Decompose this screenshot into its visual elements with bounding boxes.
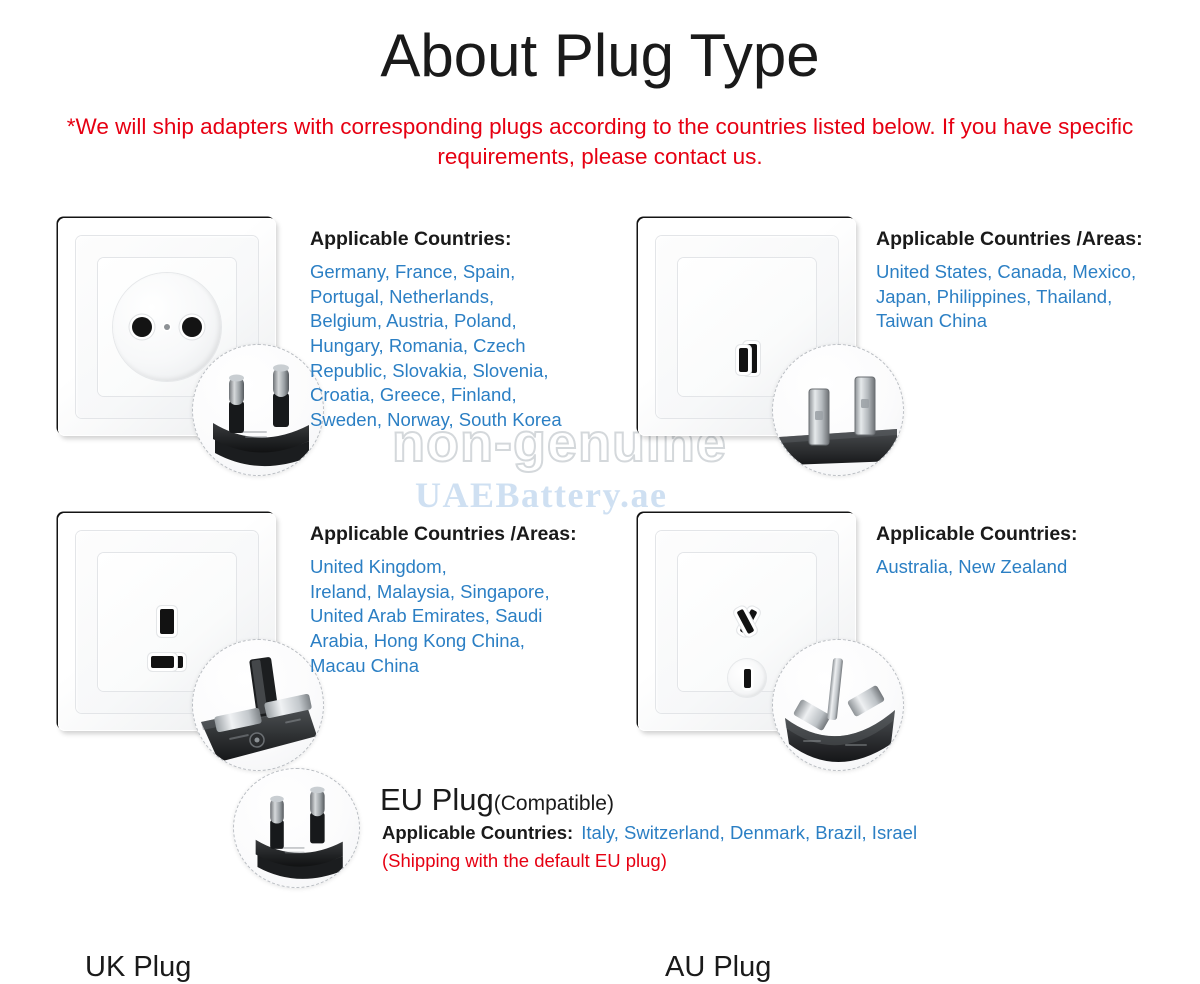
country-line: Belgium, Austria, Poland,: [310, 309, 562, 334]
infographic-page: About Plug Type *We will ship adapters w…: [0, 0, 1200, 900]
text-block-uk: Applicable Countries /Areas: United King…: [310, 523, 577, 678]
applicable-heading-us: Applicable Countries /Areas:: [876, 228, 1143, 251]
text-block-au: Applicable Countries: Australia, New Zea…: [876, 523, 1078, 580]
page-subtitle: *We will ship adapters with correspondin…: [60, 112, 1140, 171]
compatible-shipping-note: (Shipping with the default EU plug): [382, 850, 667, 872]
applicable-heading-eu: Applicable Countries:: [310, 228, 562, 251]
au-plug-icon: [773, 640, 903, 770]
inset-eu-plug-photo: [192, 344, 324, 476]
country-list-us: United States, Canada, Mexico, Japan, Ph…: [876, 260, 1143, 334]
country-line: Republic, Slovakia, Slovenia,: [310, 359, 562, 384]
eu-socket-hole-right: [182, 317, 202, 337]
us-socket-slot-right: [739, 348, 748, 372]
au-socket-earth-recess: [728, 659, 766, 697]
country-line: Ireland, Malaysia, Singapore,: [310, 580, 577, 605]
compatible-countries-row: Applicable Countries:Italy, Switzerland,…: [382, 822, 917, 844]
plug-label-uk: UK Plug: [85, 951, 191, 984]
us-plug-icon: [773, 345, 903, 475]
eu-plug-icon: [234, 769, 359, 887]
country-line: Taiwan China: [876, 309, 1143, 334]
applicable-heading-au: Applicable Countries:: [876, 523, 1078, 546]
compatible-title-suffix: (Compatible): [494, 792, 614, 815]
plug-card-us: US Plug: [638, 218, 856, 436]
country-line: Australia, New Zealand: [876, 555, 1078, 580]
subtitle-line-1: *We will ship adapters with correspondin…: [67, 114, 866, 139]
applicable-heading-uk: Applicable Countries /Areas:: [310, 523, 577, 546]
inset-eu-compatible-plug-photo: [233, 768, 360, 888]
eu-socket-center-pin: [164, 324, 170, 330]
inset-us-plug-photo: [772, 344, 904, 476]
uk-socket-slot-right: [151, 656, 174, 668]
country-list-au: Australia, New Zealand: [876, 555, 1078, 580]
compatible-applicable-heading: Applicable Countries:: [382, 822, 573, 843]
uk-plug-icon: [193, 640, 323, 770]
country-line: Germany, France, Spain,: [310, 260, 562, 285]
page-title: About Plug Type: [0, 24, 1200, 87]
plug-card-uk: UK Plug: [58, 513, 276, 731]
compatible-country-list: Italy, Switzerland, Denmark, Brazil, Isr…: [581, 822, 917, 843]
text-block-eu: Applicable Countries: Germany, France, S…: [310, 228, 562, 433]
text-block-us: Applicable Countries /Areas: United Stat…: [876, 228, 1143, 334]
country-line: United Arab Emirates, Saudi: [310, 604, 577, 629]
plug-card-au: AU Plug: [638, 513, 856, 731]
plug-label-au: AU Plug: [665, 951, 771, 984]
compatible-title-main: EU Plug: [380, 782, 494, 817]
country-line: Arabia, Hong Kong China,: [310, 629, 577, 654]
country-line: Japan, Philippines, Thailand,: [876, 285, 1143, 310]
inset-au-plug-photo: [772, 639, 904, 771]
country-line: Croatia, Greece, Finland,: [310, 383, 562, 408]
uk-socket-slot-earth: [160, 609, 174, 634]
country-list-eu: Germany, France, Spain, Portugal, Nether…: [310, 260, 562, 433]
au-socket-slot-earth: [744, 669, 751, 688]
plug-card-eu: EU Plug: [58, 218, 276, 436]
country-line: United States, Canada, Mexico,: [876, 260, 1143, 285]
country-line: Hungary, Romania, Czech: [310, 334, 562, 359]
country-line: Portugal, Netherlands,: [310, 285, 562, 310]
country-list-uk: United Kingdom, Ireland, Malaysia, Singa…: [310, 555, 577, 678]
country-line: United Kingdom,: [310, 555, 577, 580]
watermark-site: UAEBattery.ae: [415, 474, 667, 516]
country-line: Macau China: [310, 654, 577, 679]
eu-plug-icon: [193, 345, 323, 475]
eu-socket-hole-left: [132, 317, 152, 337]
inset-uk-plug-photo: [192, 639, 324, 771]
eu-socket-recess: [113, 273, 221, 381]
country-line: Sweden, Norway, South Korea: [310, 408, 562, 433]
compatible-title: EU Plug(Compatible): [380, 782, 614, 818]
